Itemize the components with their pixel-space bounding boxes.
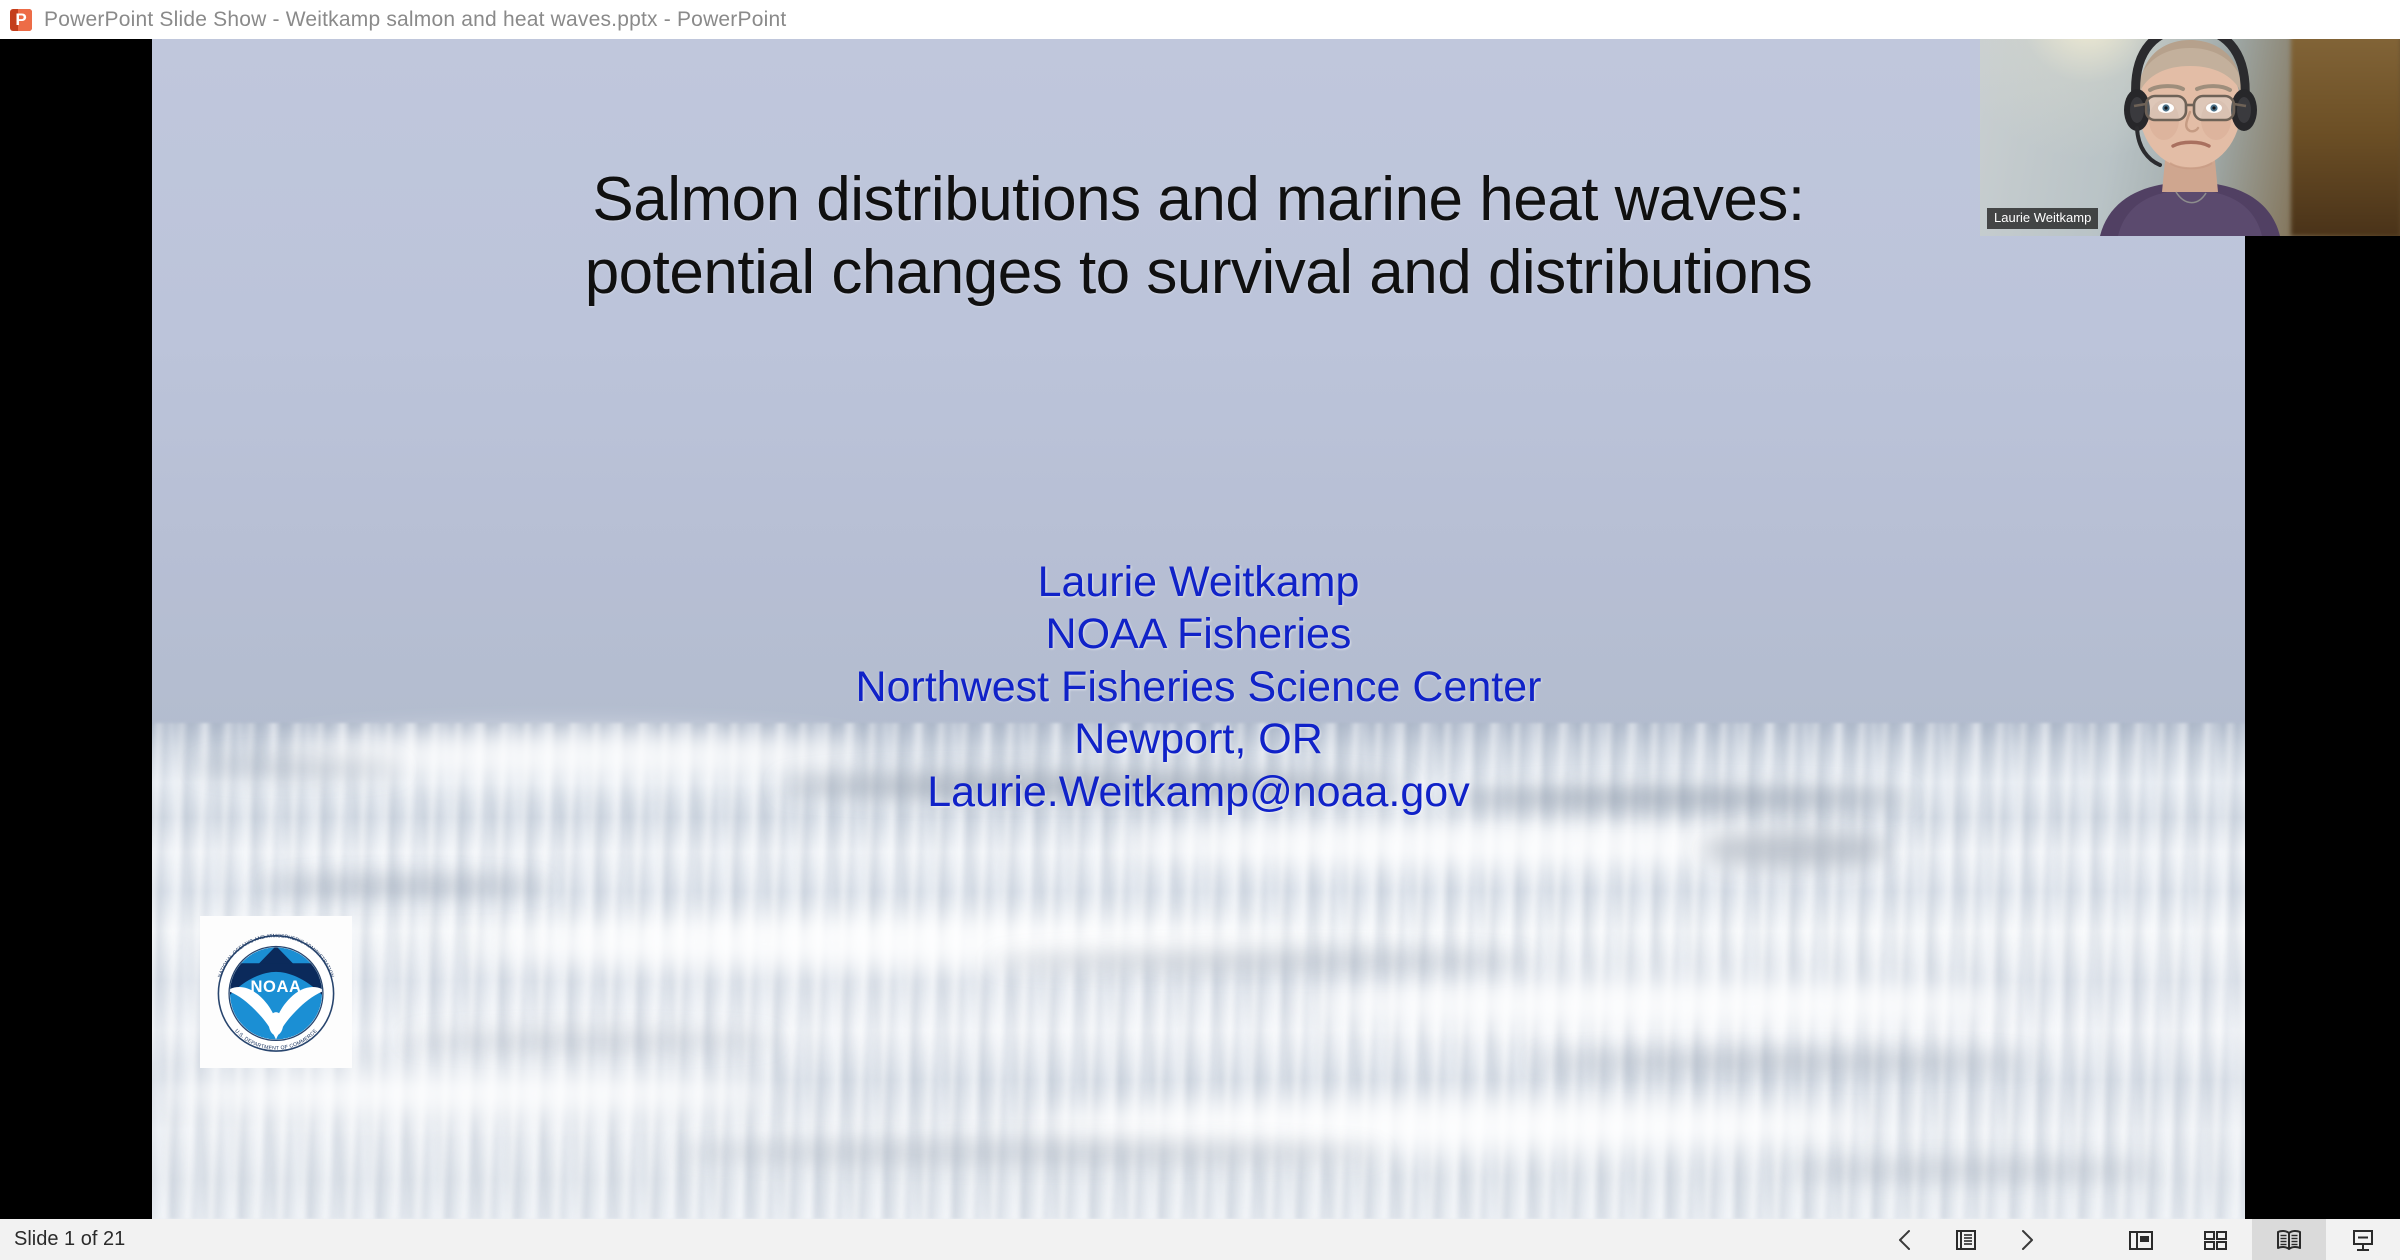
author-center: Northwest Fisheries Science Center	[487, 661, 1910, 713]
normal-view-icon	[2127, 1227, 2155, 1253]
wave-shadow	[1785, 1160, 2162, 1180]
author-agency: NOAA Fisheries	[487, 608, 1910, 660]
slide-counter: Slide 1 of 21	[14, 1228, 125, 1251]
notes-button[interactable]	[1936, 1219, 1996, 1260]
slide-canvas[interactable]: Salmon distributions and marine heat wav…	[152, 39, 2245, 1219]
wave-shadow	[1533, 1050, 2035, 1072]
reading-view-button[interactable]	[2252, 1219, 2326, 1260]
svg-text:NOAA: NOAA	[251, 977, 302, 996]
slide-show-button[interactable]	[2326, 1219, 2400, 1260]
window-title: PowerPoint Slide Show - Weitkamp salmon …	[44, 8, 786, 32]
notes-icon	[1953, 1227, 1979, 1253]
slide-stage: Salmon distributions and marine heat wav…	[0, 39, 2400, 1219]
title-bar: P PowerPoint Slide Show - Weitkamp salmo…	[0, 0, 2400, 39]
slide-title-line-1: Salmon distributions and marine heat wav…	[278, 163, 2120, 236]
noaa-logo: NOAA NATIONAL OCEANIC AND ATMOSPHERIC AD…	[200, 916, 352, 1068]
noaa-seal-icon: NOAA NATIONAL OCEANIC AND ATMOSPHERIC AD…	[204, 920, 348, 1064]
wave-crest	[152, 1070, 780, 1115]
reading-view-icon	[2274, 1227, 2304, 1253]
slide-sorter-icon	[2201, 1227, 2229, 1253]
powerpoint-icon: P	[8, 7, 34, 33]
slide-title-line-2: potential changes to survival and distri…	[278, 236, 2120, 309]
status-bar: Slide 1 of 21	[0, 1219, 2400, 1260]
wave-shadow	[1701, 832, 1889, 867]
view-toolbar	[1876, 1219, 2400, 1260]
normal-view-button[interactable]	[2104, 1219, 2178, 1260]
author-location: Newport, OR	[487, 713, 1910, 765]
wave-shadow	[403, 1031, 780, 1048]
toolbar-divider	[2056, 1219, 2104, 1260]
author-block: Laurie Weitkamp NOAA Fisheries Northwest…	[487, 556, 1910, 818]
previous-slide-button[interactable]	[1876, 1219, 1936, 1260]
slide-sorter-button[interactable]	[2178, 1219, 2252, 1260]
wave-shadow	[194, 758, 403, 778]
slide-title: Salmon distributions and marine heat wav…	[278, 163, 2120, 309]
author-email: Laurie.Weitkamp@noaa.gov	[487, 766, 1910, 818]
powerpoint-window: P PowerPoint Slide Show - Weitkamp salmo…	[0, 0, 2400, 1260]
slide-show-icon	[2349, 1227, 2377, 1253]
wave-crest	[1303, 981, 2015, 1026]
participant-name-label: Laurie Weitkamp	[1987, 208, 2098, 229]
next-slide-button[interactable]	[1996, 1219, 2056, 1260]
author-name: Laurie Weitkamp	[487, 556, 1910, 608]
